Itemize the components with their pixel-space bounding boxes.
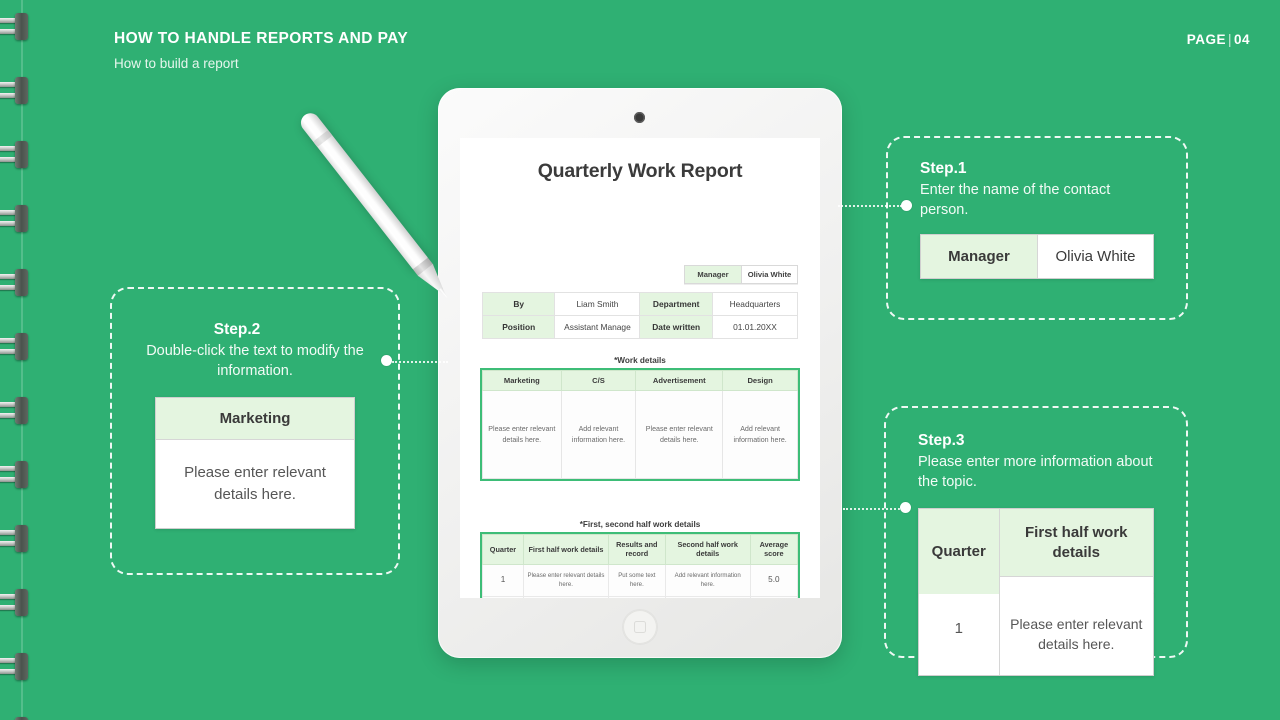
half-cell-first-half[interactable]: Please enter relevant details here. bbox=[523, 564, 608, 596]
info-value-position[interactable]: Assistant Manage bbox=[555, 316, 640, 339]
table-header-row: Marketing C/S Advertisement Design bbox=[483, 371, 798, 391]
work-cell-design[interactable]: Add relevant information here. bbox=[723, 391, 798, 479]
binding-ring bbox=[0, 204, 32, 234]
half-header-second-half: Second half work details bbox=[665, 535, 750, 565]
table-row: By Liam Smith Department Headquarters bbox=[483, 293, 798, 316]
half-header-first-half: First half work details bbox=[523, 535, 608, 565]
manager-field-row[interactable]: Manager Olivia White bbox=[684, 265, 798, 284]
step1-widget-value[interactable]: Olivia White bbox=[1037, 235, 1153, 278]
binding-ring bbox=[0, 716, 32, 720]
anchor-dot-step2 bbox=[381, 355, 392, 366]
step3-widget-value-value[interactable]: Please enter relevant details here. bbox=[999, 594, 1153, 675]
page-title: HOW TO HANDLE REPORTS AND PAY bbox=[114, 30, 408, 48]
half-work-details-table: Quarter First half work details Results … bbox=[482, 534, 798, 598]
half-cell-quarter: 1 bbox=[483, 564, 524, 596]
step3-widget[interactable]: Quarter First half work details bbox=[918, 508, 1154, 595]
work-header-cs: C/S bbox=[561, 371, 636, 391]
binding-ring bbox=[0, 268, 32, 298]
half-details-caption: *First, second half work details bbox=[460, 520, 820, 529]
step3-widget-value-col: First half work details bbox=[999, 509, 1153, 594]
half-cell-score[interactable]: 5.0 bbox=[750, 564, 797, 596]
home-square-icon[interactable] bbox=[623, 610, 657, 644]
spiral-binding bbox=[0, 0, 34, 720]
step1-widget-key: Manager bbox=[921, 235, 1037, 278]
page-separator: | bbox=[1226, 32, 1234, 47]
camera-dot-icon bbox=[634, 112, 645, 123]
step3-widget-value-header: First half work details bbox=[1000, 509, 1153, 577]
half-cell-second-half[interactable]: Add relevant information here. bbox=[665, 564, 750, 596]
report-info-table: By Liam Smith Department Headquarters Po… bbox=[482, 292, 798, 339]
step2-widget-body[interactable]: Please enter relevant details here. bbox=[156, 440, 354, 528]
document-page: Quarterly Work Report Manager Olivia Whi… bbox=[460, 160, 820, 598]
half-cell-results[interactable]: Put some text here. bbox=[608, 596, 665, 598]
anchor-dot-step3 bbox=[900, 502, 911, 513]
work-cell-cs[interactable]: Add relevant information here. bbox=[561, 391, 636, 479]
leader-line-step2 bbox=[392, 361, 448, 363]
table-row: Please enter relevant details here. Add … bbox=[483, 391, 798, 479]
table-row: 2 Add relevant information here. Put som… bbox=[483, 596, 798, 598]
work-details-table: Marketing C/S Advertisement Design Pleas… bbox=[482, 370, 798, 479]
step2-widget-header: Marketing bbox=[156, 398, 354, 440]
tablet-screen: Quarterly Work Report Manager Olivia Whi… bbox=[460, 138, 820, 598]
work-cell-marketing[interactable]: Please enter relevant details here. bbox=[483, 391, 562, 479]
work-header-marketing: Marketing bbox=[483, 371, 562, 391]
tablet-device: Quarterly Work Report Manager Olivia Whi… bbox=[438, 88, 842, 658]
table-row: Position Assistant Manage Date written 0… bbox=[483, 316, 798, 339]
binding-ring bbox=[0, 652, 32, 682]
step1-label: Step.1 bbox=[920, 160, 1154, 178]
binding-ring bbox=[0, 524, 32, 554]
step2-label: Step.2 bbox=[112, 321, 398, 339]
half-cell-results[interactable]: Put some text here. bbox=[608, 564, 665, 596]
half-cell-score[interactable]: 4.0 bbox=[750, 596, 797, 598]
work-details-caption: *Work details bbox=[460, 356, 820, 365]
step3-widget-row[interactable]: 1 Please enter relevant details here. bbox=[918, 594, 1154, 676]
step2-description: Double-click the text to modify the info… bbox=[112, 342, 398, 381]
half-header-average-score: Average score bbox=[750, 535, 797, 565]
step3-widget-key-value: 1 bbox=[919, 594, 999, 675]
info-value-date-written[interactable]: 01.01.20XX bbox=[712, 316, 797, 339]
binding-ring bbox=[0, 12, 32, 42]
work-header-design: Design bbox=[723, 371, 798, 391]
half-header-results: Results and record bbox=[608, 535, 665, 565]
binding-ring bbox=[0, 460, 32, 490]
callout-step2: Step.2 Double-click the text to modify t… bbox=[110, 287, 400, 575]
table-row: 1 Please enter relevant details here. Pu… bbox=[483, 564, 798, 596]
callout-step1: Step.1 Enter the name of the contact per… bbox=[886, 136, 1188, 320]
anchor-dot-step1 bbox=[901, 200, 912, 211]
info-key-department: Department bbox=[640, 293, 712, 316]
half-header-quarter: Quarter bbox=[483, 535, 524, 565]
info-key-position: Position bbox=[483, 316, 555, 339]
binding-ring bbox=[0, 140, 32, 170]
half-cell-first-half[interactable]: Add relevant information here. bbox=[523, 596, 608, 598]
page-label: PAGE bbox=[1187, 32, 1226, 47]
header: HOW TO HANDLE REPORTS AND PAY How to bui… bbox=[114, 30, 408, 71]
callout-step3: Step.3 Please enter more information abo… bbox=[884, 406, 1188, 658]
info-value-department[interactable]: Headquarters bbox=[712, 293, 797, 316]
page-number: 04 bbox=[1234, 32, 1250, 47]
stylus-pen-icon bbox=[295, 107, 457, 304]
manager-field-label: Manager bbox=[685, 266, 741, 283]
step2-widget[interactable]: Marketing Please enter relevant details … bbox=[155, 397, 355, 529]
binding-ring bbox=[0, 332, 32, 362]
binding-ring bbox=[0, 588, 32, 618]
info-value-by[interactable]: Liam Smith bbox=[555, 293, 640, 316]
manager-field-value[interactable]: Olivia White bbox=[741, 266, 797, 283]
page-indicator: PAGE|04 bbox=[1187, 32, 1250, 47]
step3-label: Step.3 bbox=[918, 432, 1154, 450]
info-key-by: By bbox=[483, 293, 555, 316]
step1-widget[interactable]: Manager Olivia White bbox=[920, 234, 1154, 279]
step1-description: Enter the name of the contact person. bbox=[920, 181, 1154, 220]
table-header-row: Quarter First half work details Results … bbox=[483, 535, 798, 565]
work-header-advertisement: Advertisement bbox=[636, 371, 723, 391]
half-cell-quarter: 2 bbox=[483, 596, 524, 598]
step3-description: Please enter more information about the … bbox=[918, 453, 1154, 492]
work-cell-advertisement[interactable]: Please enter relevant details here. bbox=[636, 391, 723, 479]
half-cell-second-half[interactable]: Please enter relevant details here. bbox=[665, 596, 750, 598]
page-subtitle: How to build a report bbox=[114, 56, 408, 71]
step3-widget-key-header: Quarter bbox=[919, 509, 999, 594]
document-title: Quarterly Work Report bbox=[482, 160, 798, 183]
info-key-date-written: Date written bbox=[640, 316, 712, 339]
binding-ring bbox=[0, 76, 32, 106]
binding-ring bbox=[0, 396, 32, 426]
